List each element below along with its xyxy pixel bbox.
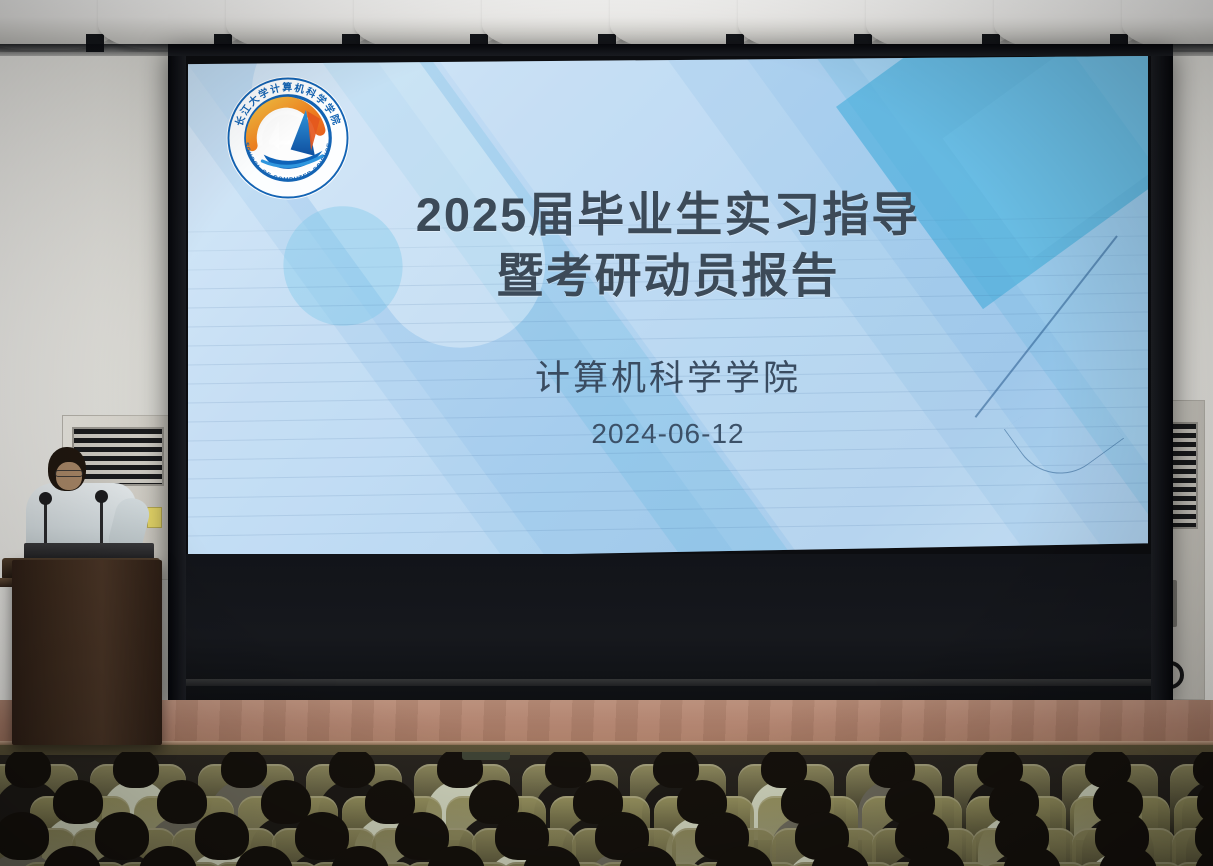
attendee-head	[95, 812, 149, 860]
attendee-head	[157, 780, 207, 824]
auditorium-photo: 长江大学计算机科学学院 SCHOOL OF COMPUTER SCIENCE 2…	[0, 0, 1213, 866]
slide-title-line-1: 2025届毕业生实习指导	[416, 184, 921, 245]
podium: YANGTZE UNIVERSITY 长江大学	[12, 560, 162, 745]
slide-date: 2024-06-12	[535, 418, 801, 450]
attendee-head	[5, 752, 51, 788]
screen-bezel-right	[1151, 44, 1173, 704]
attendee-cap	[462, 752, 510, 760]
ceiling-baffle	[1122, 0, 1213, 50]
screen-unlit-area	[168, 554, 1173, 704]
screen-bezel-left	[168, 44, 186, 704]
slide-title-line-2: 暨考研动员报告	[416, 245, 921, 306]
audience-area	[0, 752, 1213, 866]
microphone-head-right	[95, 490, 108, 503]
attendee-head	[113, 752, 159, 788]
attendee-head	[329, 752, 375, 788]
slide-organization: 计算机科学学院	[535, 358, 801, 400]
attendee-head	[221, 752, 267, 788]
slide-text-container: 2025届毕业生实习指导 暨考研动员报告 计算机科学学院 2024-06-12	[188, 56, 1148, 561]
attendee-head	[0, 812, 49, 860]
glasses-icon	[55, 470, 83, 477]
slide-subtitle-block: 计算机科学学院 2024-06-12	[535, 358, 801, 450]
ac-grille-icon	[72, 427, 164, 486]
screen-bezel-top	[168, 44, 1173, 56]
attendee-head	[195, 812, 249, 860]
slide-title-block: 2025届毕业生实习指导 暨考研动员报告	[416, 184, 921, 306]
screen-bottom-rail	[178, 679, 1163, 686]
microphone-head-left	[39, 492, 52, 505]
attendee-head	[53, 780, 103, 824]
led-screen: 长江大学计算机科学学院 SCHOOL OF COMPUTER SCIENCE 2…	[168, 44, 1173, 704]
presentation-slide: 长江大学计算机科学学院 SCHOOL OF COMPUTER SCIENCE 2…	[188, 56, 1148, 561]
